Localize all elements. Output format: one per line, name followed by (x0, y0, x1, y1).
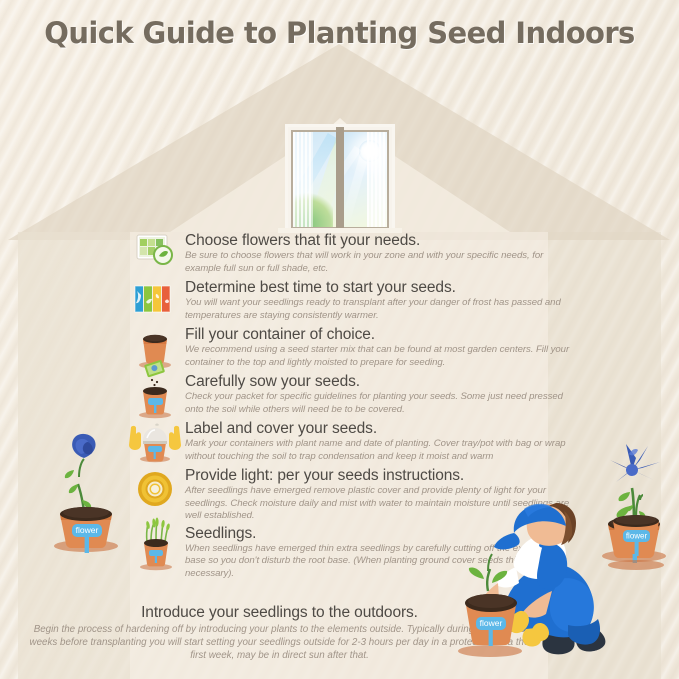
infographic-poster: Quick Guide to Planting Seed Indoors (0, 0, 679, 679)
window-illustration (285, 124, 395, 232)
sprouting-seedlings-pot-icon (133, 514, 179, 572)
window-pane-right (340, 130, 389, 229)
gardener-illustration: flower (440, 495, 679, 679)
list-item: Label and cover your seeds. Mark your co… (133, 419, 581, 465)
page-title: Quick Guide to Planting Seed Indoors (0, 16, 679, 50)
step-title: Fill your container of choice. (185, 325, 581, 344)
step-title: Label and cover your seeds. (185, 419, 581, 438)
list-item: Determine best time to start your seeds.… (133, 278, 581, 324)
list-item: Carefully sow your seeds. Check your pac… (133, 372, 581, 418)
sowing-seeds-packet-icon (133, 360, 179, 420)
seed-packet-rack-icon (133, 231, 179, 277)
window-center-sash (336, 127, 344, 229)
step-title: Determine best time to start your seeds. (185, 278, 581, 297)
calendar-seasons-icon (133, 282, 179, 328)
step-body: Be sure to choose flowers that will work… (185, 250, 581, 275)
gloves-covering-pot-icon (129, 419, 181, 465)
step-body: You will want your seedlings ready to tr… (185, 297, 581, 322)
left-plant-label: flower (76, 525, 99, 535)
gardener-pot-label: flower (480, 618, 503, 628)
window-curtain-right (367, 132, 387, 227)
step-title: Provide light: per your seeds instructio… (185, 466, 581, 485)
step-body: Mark your containers with plant name and… (185, 438, 581, 463)
sun-light-icon (133, 468, 179, 514)
left-potted-flower: flower (38, 418, 134, 558)
list-item: Fill your container of choice. We recomm… (133, 325, 581, 371)
list-item: Choose flowers that fit your needs. Be s… (133, 231, 581, 277)
step-body: Check your packet for specific guideline… (185, 391, 581, 416)
step-title: Choose flowers that fit your needs. (185, 231, 581, 250)
window-pane-left (291, 130, 338, 229)
shelf-pot-label: flower (626, 532, 648, 541)
shelf-potted-seedling: flower (608, 495, 664, 570)
step-body: We recommend using a seed starter mix th… (185, 344, 581, 369)
step-title: Carefully sow your seeds. (185, 372, 581, 391)
window-curtain-left (293, 132, 313, 227)
